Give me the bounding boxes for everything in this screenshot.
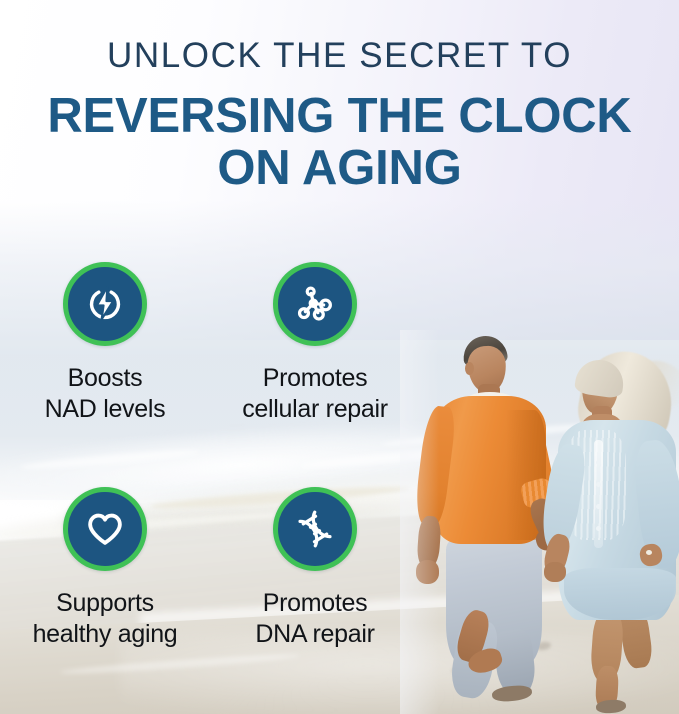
promotional-poster: UNLOCK THE SECRET TO REVERSING THE CLOCK…: [0, 0, 679, 714]
dress-button: [596, 526, 601, 531]
molecule-network-icon: [292, 281, 338, 327]
dress-button: [596, 460, 601, 465]
benefit-badge: [63, 487, 147, 571]
benefit-label-line-1: Promotes: [263, 589, 368, 617]
headline-kicker: UNLOCK THE SECRET TO: [0, 38, 679, 73]
benefit-label-line-2: healthy aging: [33, 619, 178, 650]
benefit-label-line-1: Promotes: [263, 364, 368, 392]
benefit-label: Boosts NAD levels: [45, 363, 166, 425]
benefits-grid: Boosts NAD levels: [0, 262, 420, 650]
dress-placket: [594, 440, 603, 548]
benefit-label-line-2: NAD levels: [45, 394, 166, 425]
heart-icon: [82, 506, 128, 552]
woman-sandal: [596, 699, 627, 714]
benefit-badge: [273, 487, 357, 571]
woman-left-hand: [544, 562, 566, 582]
headline-main: REVERSING THE CLOCK ON AGING: [0, 91, 679, 195]
benefit-label: Supports healthy aging: [33, 588, 178, 650]
dress-button: [596, 482, 601, 487]
benefit-promotes-dna-repair[interactable]: Promotes DNA repair: [210, 487, 420, 650]
benefit-label-line-1: Boosts: [68, 364, 143, 392]
benefit-label-line-2: DNA repair: [255, 619, 374, 650]
dna-helix-icon: [292, 506, 338, 552]
woman-figure: [542, 348, 679, 714]
man-ear: [465, 362, 474, 375]
benefits-row-2: Supports healthy aging: [0, 487, 420, 650]
benefit-supports-healthy-aging[interactable]: Supports healthy aging: [0, 487, 210, 650]
headline-block: UNLOCK THE SECRET TO REVERSING THE CLOCK…: [0, 38, 679, 195]
man-figure: [410, 330, 550, 714]
benefit-label-line-2: cellular repair: [242, 394, 388, 425]
headline-line-1: REVERSING THE CLOCK: [47, 89, 631, 143]
benefit-promotes-cellular-repair[interactable]: Promotes cellular repair: [210, 262, 420, 425]
woman-ring: [646, 550, 652, 555]
benefit-badge: [273, 262, 357, 346]
dress-ruffle-hem: [564, 568, 676, 620]
couple-photo-subject: [400, 330, 679, 714]
benefit-label-line-1: Supports: [56, 589, 154, 617]
man-sandal: [491, 684, 532, 703]
headline-line-2: ON AGING: [0, 143, 679, 195]
power-bolt-icon: [82, 281, 128, 327]
benefits-row-1: Boosts NAD levels: [0, 262, 420, 425]
benefit-badge: [63, 262, 147, 346]
benefit-boosts-nad-levels[interactable]: Boosts NAD levels: [0, 262, 210, 425]
benefit-label: Promotes DNA repair: [255, 588, 374, 650]
benefit-label: Promotes cellular repair: [242, 363, 388, 425]
dress-button: [596, 504, 601, 509]
